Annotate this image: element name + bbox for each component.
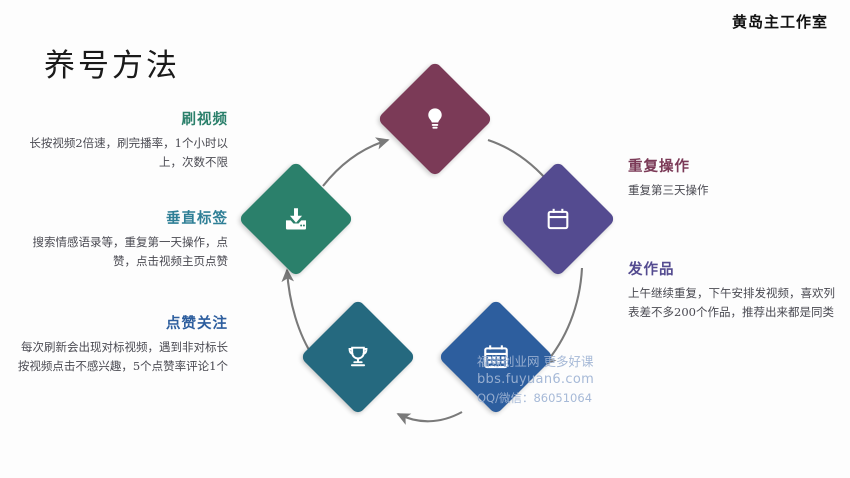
block-heading: 点赞关注 (10, 312, 228, 333)
slide-canvas: 黄岛主工作室 养号方法 刷视频 长按视频2倍速，刷完播率，1个小时以上，次数不限… (0, 0, 850, 478)
text-block-fa-zuopin: 发作品 上午继续重复，下午安排发视频，喜欢列表差不多200个作品，推荐出来都是同… (628, 258, 843, 321)
block-heading: 发作品 (628, 258, 843, 279)
block-body: 每次刷新会出现对标视频，遇到非对标长按视频点击不感兴趣，5个点赞率评论1个 (10, 338, 228, 375)
block-body: 搜索情感语录等，重复第一天操作，点赞，点击视频主页点赞 (10, 233, 228, 270)
calendar-icon (545, 206, 571, 232)
block-heading: 垂直标签 (10, 207, 228, 228)
block-body: 长按视频2倍速，刷完播率，1个小时以上，次数不限 (10, 134, 228, 171)
brand-label: 黄岛主工作室 (732, 11, 828, 32)
block-heading: 刷视频 (10, 108, 228, 129)
page-title: 养号方法 (44, 40, 180, 85)
block-body: 上午继续重复，下午安排发视频，喜欢列表差不多200个作品，推荐出来都是同类 (628, 284, 843, 321)
lightbulb-icon (422, 106, 448, 132)
block-heading: 重复操作 (628, 155, 843, 176)
trophy-icon (345, 344, 371, 370)
text-block-dianzan-guanzhu: 点赞关注 每次刷新会出现对标视频，遇到非对标长按视频点击不感兴趣，5个点赞率评论… (10, 312, 228, 375)
text-block-chuizhi-biaoqian: 垂直标签 搜索情感语录等，重复第一天操作，点赞，点击视频主页点赞 (10, 207, 228, 270)
text-block-chongfu-caozuo: 重复操作 重复第三天操作 (628, 155, 843, 200)
cycle-diagram (240, 58, 630, 458)
download-icon (282, 205, 310, 233)
block-body: 重复第三天操作 (628, 181, 843, 200)
calendar-grid-icon (482, 343, 510, 371)
text-block-shua-shipin: 刷视频 长按视频2倍速，刷完播率，1个小时以上，次数不限 (10, 108, 228, 171)
